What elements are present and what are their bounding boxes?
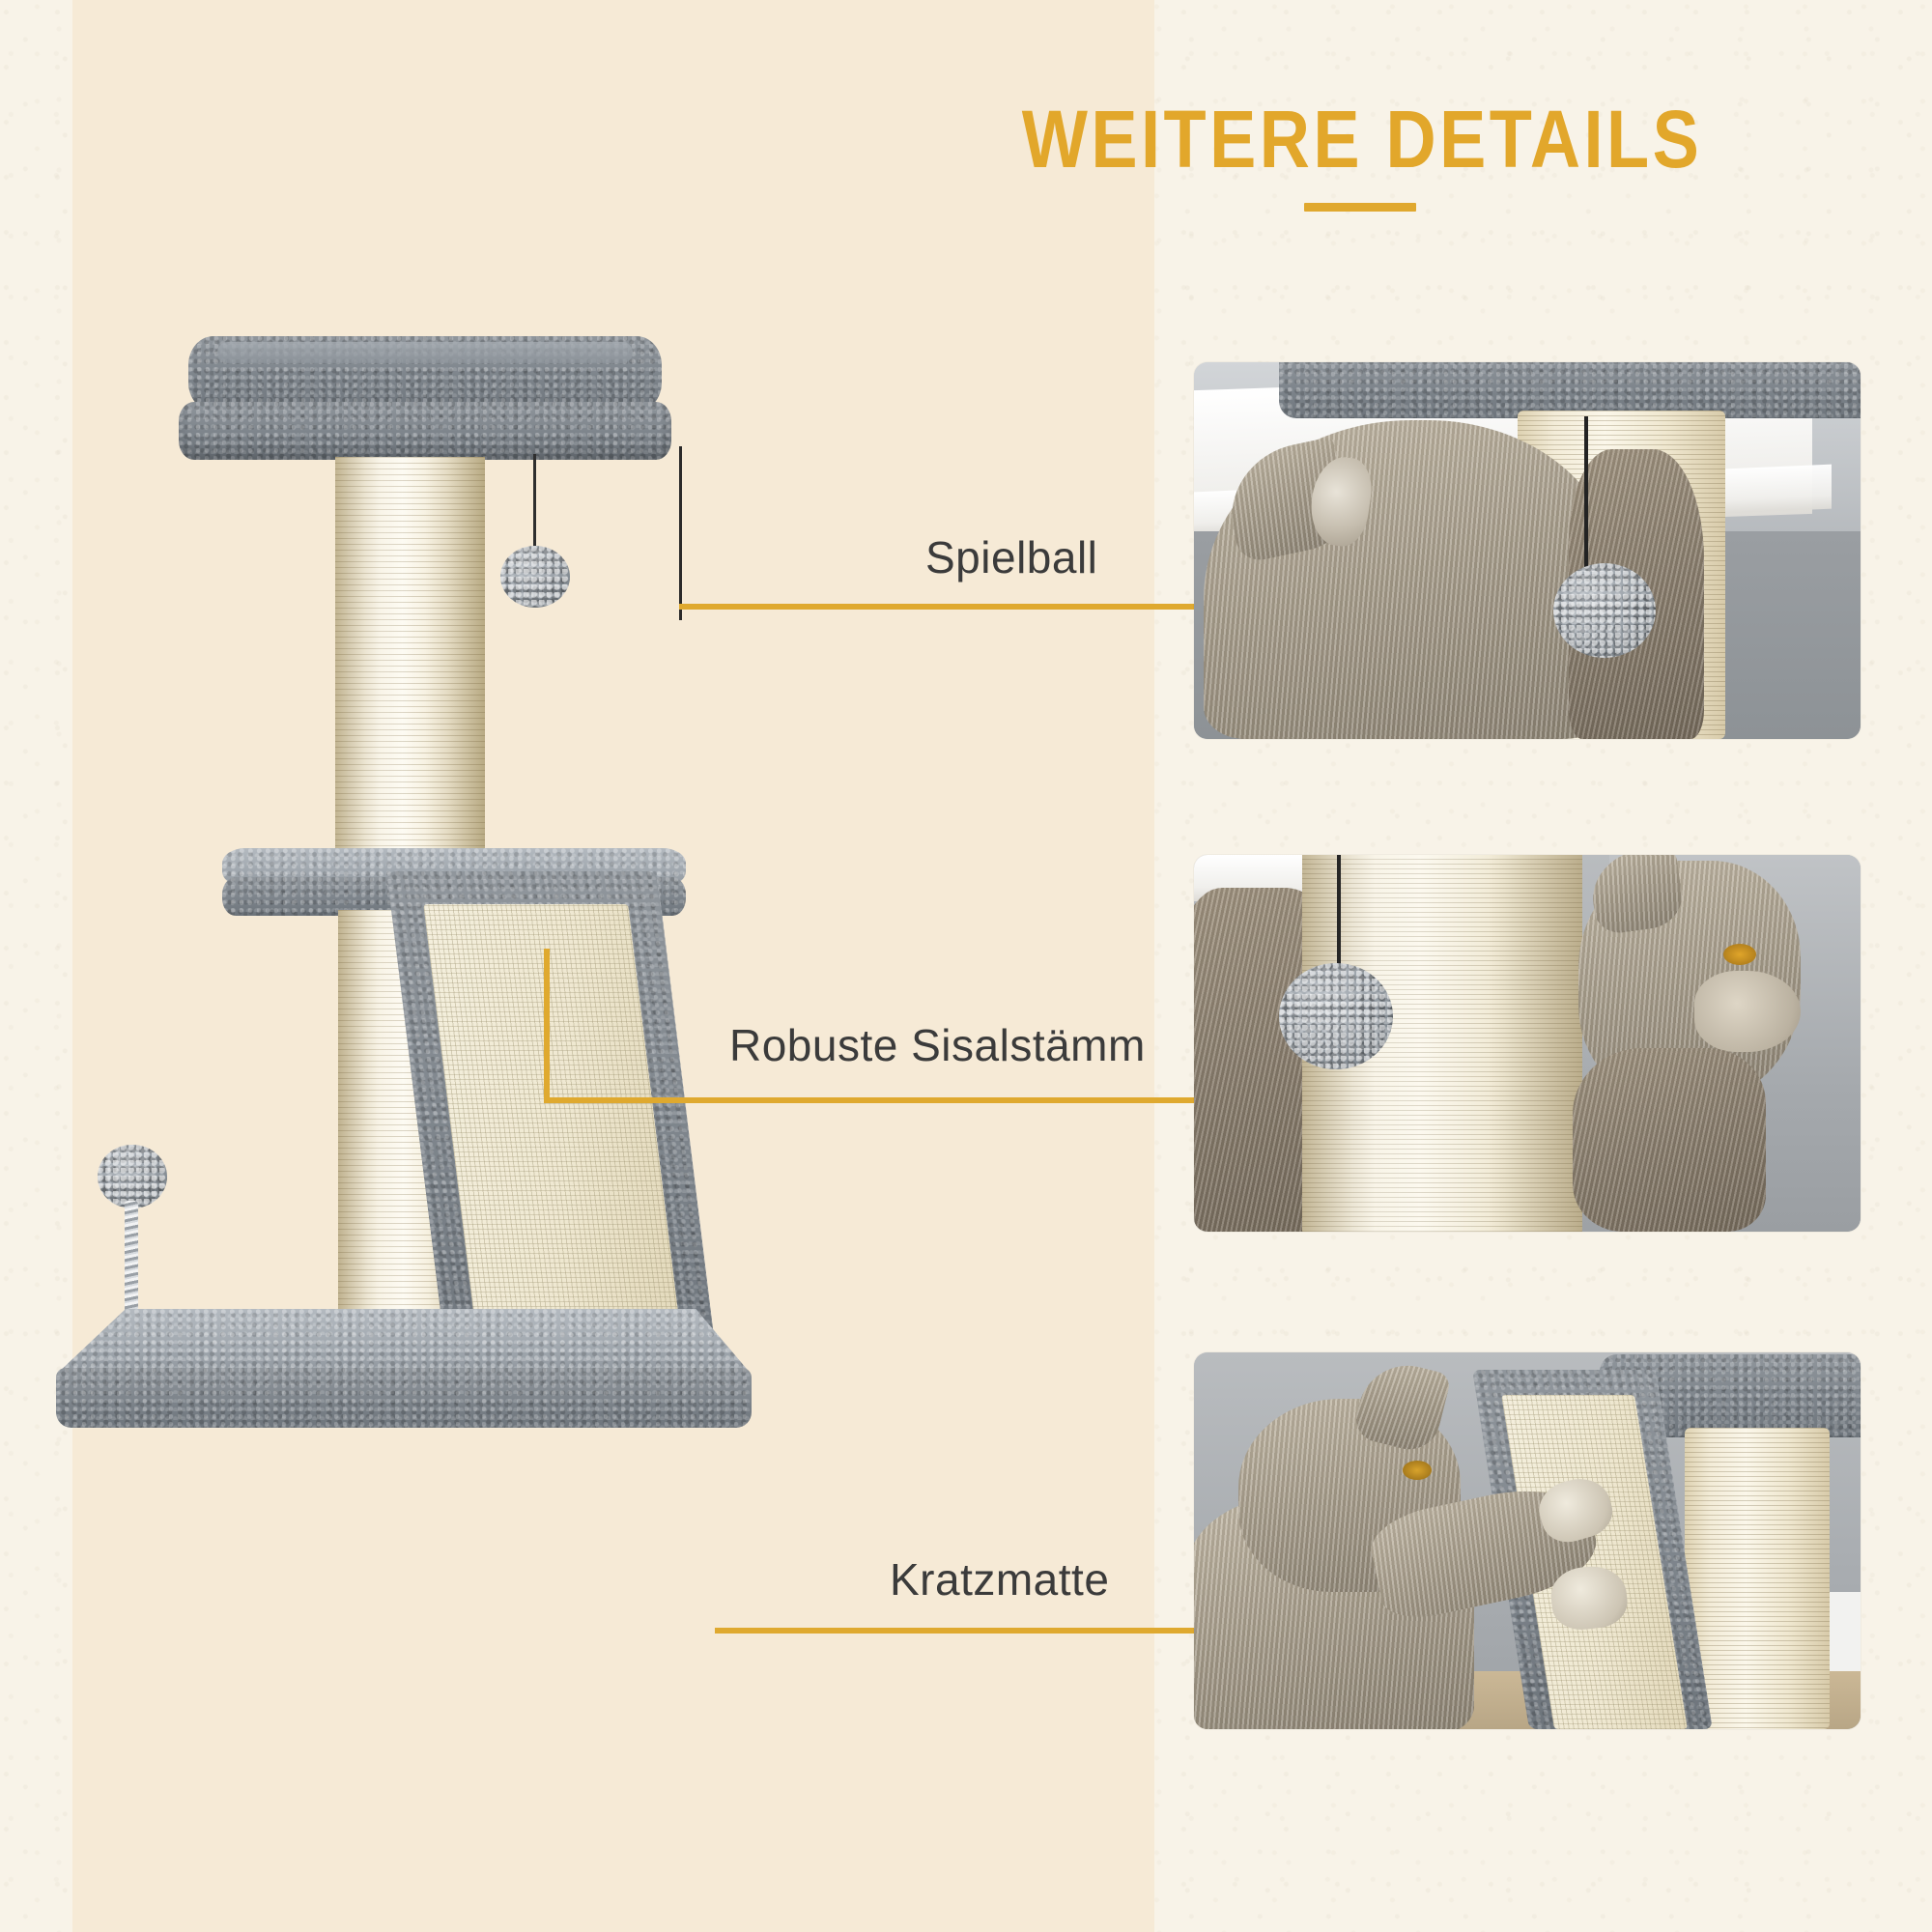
hanging-toy-string — [533, 454, 536, 560]
infographic-canvas: WEITERE DETAILS — [0, 0, 1932, 1932]
photo-kratzmatte — [1194, 1352, 1861, 1729]
photo2-cat-chest — [1573, 1048, 1766, 1232]
photo1-pompom-icon — [1553, 563, 1656, 658]
product-image — [39, 319, 811, 1459]
callout-kratzmatte-label: Kratzmatte — [890, 1553, 1109, 1605]
callout-sisal-stem — [544, 949, 550, 1103]
photo-spielball — [1194, 362, 1861, 739]
photo1-toy-string — [1584, 416, 1588, 581]
top-platform-inner — [217, 342, 633, 363]
photo2-cat-eye-icon — [1723, 944, 1756, 965]
callout-sisal-label-clip: Robuste Sisalstämm — [676, 1019, 1196, 1096]
title-underline — [1304, 203, 1416, 212]
top-platform-slab — [179, 402, 671, 460]
base-top — [56, 1309, 752, 1375]
photo2-toy-string — [1337, 855, 1341, 976]
photo-sisal — [1194, 855, 1861, 1232]
spring-pompom-icon — [98, 1145, 167, 1208]
callout-sisal-label: Robuste Sisalstämm — [729, 1019, 1146, 1071]
hanging-pompom-icon — [500, 546, 570, 608]
photo2-pompom-icon — [1279, 963, 1393, 1069]
page-title: WEITERE DETAILS — [922, 93, 1803, 186]
callout-kratzmatte-line — [715, 1628, 1196, 1634]
photo3-cat-eye-icon — [1403, 1461, 1432, 1480]
photo3-sisal-post — [1685, 1428, 1830, 1729]
photo2-cat-muzzle — [1694, 971, 1801, 1052]
callout-sisal-line — [544, 1097, 1196, 1103]
callout-spielball-label: Spielball — [925, 531, 1097, 583]
base-edge — [56, 1368, 752, 1428]
upper-post-shade — [335, 457, 485, 863]
callout-spielball-line — [679, 604, 1196, 610]
callout-spielball-stem — [679, 446, 682, 620]
